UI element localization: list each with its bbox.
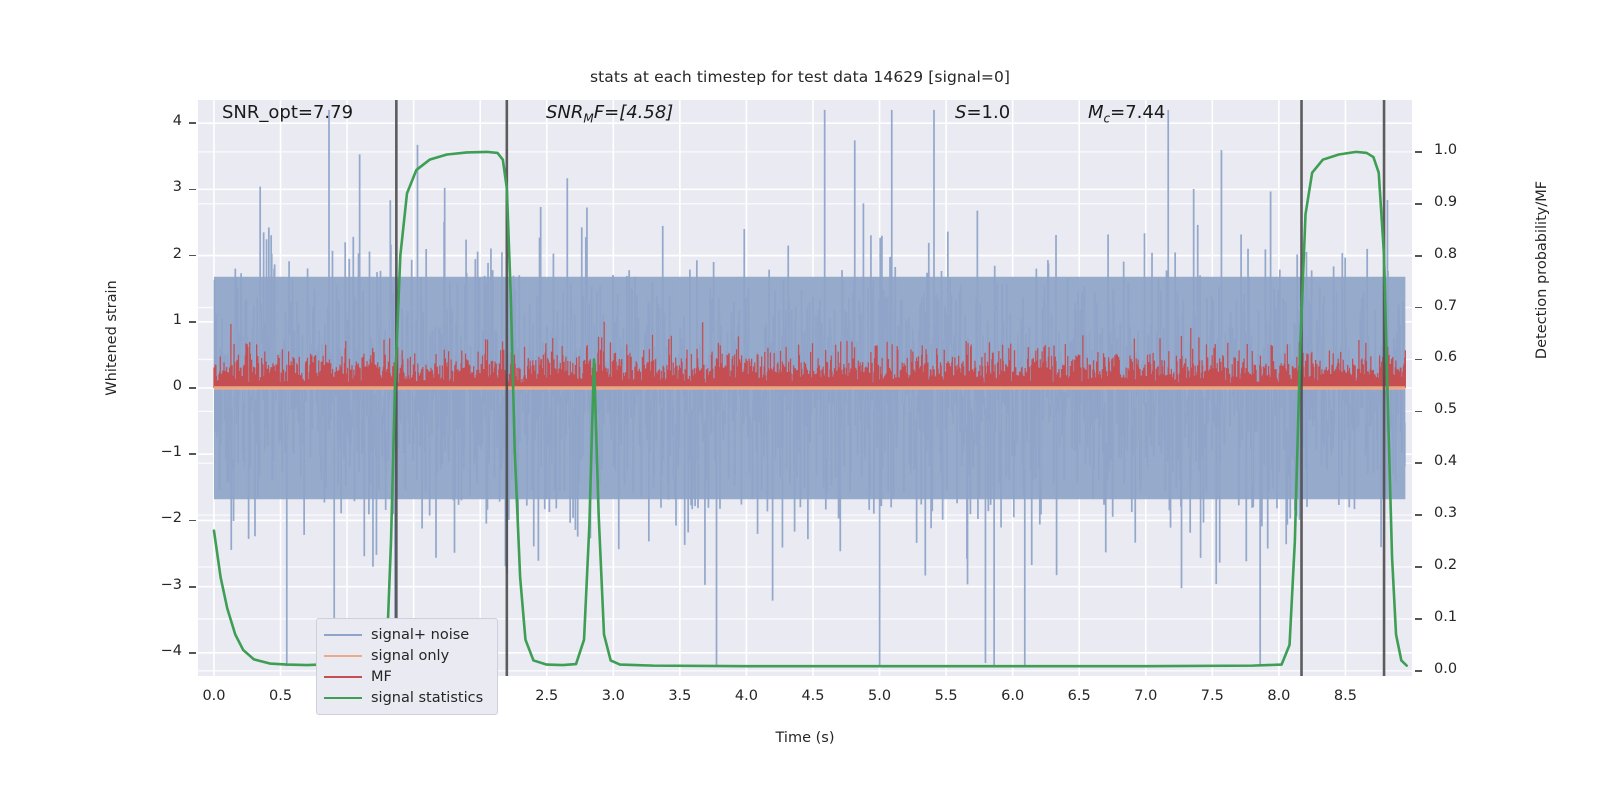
page-title: stats at each timestep for test data 146…	[0, 68, 1600, 86]
y-tick-mark-right-7	[1415, 514, 1422, 516]
y-tick-mark-left-6	[189, 520, 196, 522]
legend-swatch-icon-3	[324, 697, 362, 699]
y-tick-right-0: 1.0	[1434, 142, 1494, 158]
annotation-s-suffix: =1.0	[966, 102, 1010, 123]
annotation-snr-mf-subscript: M	[583, 112, 593, 126]
legend-item-0[interactable]: signal+ noise	[324, 624, 490, 645]
plot-area	[198, 100, 1412, 676]
plot-svg	[198, 100, 1412, 676]
y-tick-mark-right-10	[1415, 670, 1422, 672]
legend-label-3: signal statistics	[371, 690, 483, 706]
legend-item-3[interactable]: signal statistics	[324, 687, 490, 708]
y-tick-mark-right-3	[1415, 307, 1422, 309]
y-tick-right-7: 0.3	[1434, 505, 1494, 521]
x-tick-9: 4.5	[778, 688, 848, 704]
annotation-mc-suffix: =7.44	[1110, 102, 1165, 123]
legend-label-1: signal only	[371, 648, 449, 664]
y-tick-left-4: 0	[122, 378, 182, 394]
y-tick-mark-right-5	[1415, 411, 1422, 413]
annotation-mc-value: Mc=7.44	[1088, 102, 1165, 126]
y-tick-left-3: 1	[122, 312, 182, 328]
y-tick-right-6: 0.4	[1434, 453, 1494, 469]
y-axis-label-left: Whitened strain	[104, 208, 120, 468]
y-tick-mark-right-9	[1415, 618, 1422, 620]
legend[interactable]: signal+ noisesignal onlyMFsignal statist…	[316, 618, 498, 715]
y-tick-mark-right-8	[1415, 566, 1422, 568]
x-tick-15: 7.5	[1177, 688, 1247, 704]
annotation-mc-prefix: M	[1088, 102, 1104, 123]
y-tick-right-2: 0.8	[1434, 246, 1494, 262]
y-tick-left-5: −1	[122, 444, 182, 460]
y-tick-right-10: 0.0	[1434, 661, 1494, 677]
x-tick-12: 6.0	[978, 688, 1048, 704]
y-tick-mark-right-1	[1415, 203, 1422, 205]
y-tick-mark-right-4	[1415, 359, 1422, 361]
y-tick-mark-right-2	[1415, 255, 1422, 257]
y-tick-mark-left-8	[189, 652, 196, 654]
y-tick-mark-left-1	[189, 189, 196, 191]
x-axis-label: Time (s)	[198, 730, 1412, 746]
y-tick-right-8: 0.2	[1434, 557, 1494, 573]
annotation-snr-mf: SNRMF=[4.58]	[546, 102, 673, 126]
y-tick-mark-right-0	[1415, 151, 1422, 153]
y-tick-right-9: 0.1	[1434, 609, 1494, 625]
x-tick-5: 2.5	[512, 688, 582, 704]
x-tick-16: 8.0	[1244, 688, 1314, 704]
legend-label-2: MF	[371, 669, 392, 685]
y-tick-left-1: 3	[122, 179, 182, 195]
x-tick-13: 6.5	[1044, 688, 1114, 704]
annotation-s-value: S=1.0	[955, 102, 1010, 123]
legend-swatch-icon-0	[324, 634, 362, 636]
y-tick-mark-left-5	[189, 453, 196, 455]
y-tick-left-6: −2	[122, 510, 182, 526]
annotation-snr-mf-suffix: F=[4.58]	[594, 102, 674, 123]
y-axis-label-right: Detection probability/MF	[1534, 120, 1550, 420]
x-tick-6: 3.0	[578, 688, 648, 704]
y-tick-left-0: 4	[122, 113, 182, 129]
y-tick-left-2: 2	[122, 246, 182, 262]
legend-item-2[interactable]: MF	[324, 666, 490, 687]
figure-canvas: stats at each timestep for test data 146…	[0, 0, 1600, 800]
y-tick-right-3: 0.7	[1434, 298, 1494, 314]
y-tick-right-1: 0.9	[1434, 194, 1494, 210]
x-tick-8: 4.0	[711, 688, 781, 704]
y-tick-mark-left-7	[189, 586, 196, 588]
x-tick-17: 8.5	[1310, 688, 1380, 704]
y-tick-right-5: 0.5	[1434, 401, 1494, 417]
y-tick-mark-left-0	[189, 122, 196, 124]
x-tick-14: 7.0	[1111, 688, 1181, 704]
y-tick-mark-left-4	[189, 387, 196, 389]
y-tick-right-4: 0.6	[1434, 349, 1494, 365]
y-tick-left-7: −3	[122, 577, 182, 593]
x-tick-7: 3.5	[645, 688, 715, 704]
annotation-snr-opt: SNR_opt=7.79	[222, 102, 353, 123]
y-tick-mark-left-2	[189, 255, 196, 257]
x-tick-11: 5.5	[911, 688, 981, 704]
legend-swatch-icon-2	[324, 676, 362, 678]
y-tick-left-8: −4	[122, 643, 182, 659]
x-tick-10: 5.0	[845, 688, 915, 704]
x-tick-0: 0.0	[179, 688, 249, 704]
legend-swatch-icon-1	[324, 655, 362, 657]
annotation-snr-mf-prefix: SNR	[546, 102, 583, 123]
annotation-s-prefix: S	[955, 102, 966, 123]
y-tick-mark-right-6	[1415, 462, 1422, 464]
legend-item-1[interactable]: signal only	[324, 645, 490, 666]
y-tick-mark-left-3	[189, 321, 196, 323]
x-tick-1: 0.5	[246, 688, 316, 704]
legend-label-0: signal+ noise	[371, 627, 469, 643]
